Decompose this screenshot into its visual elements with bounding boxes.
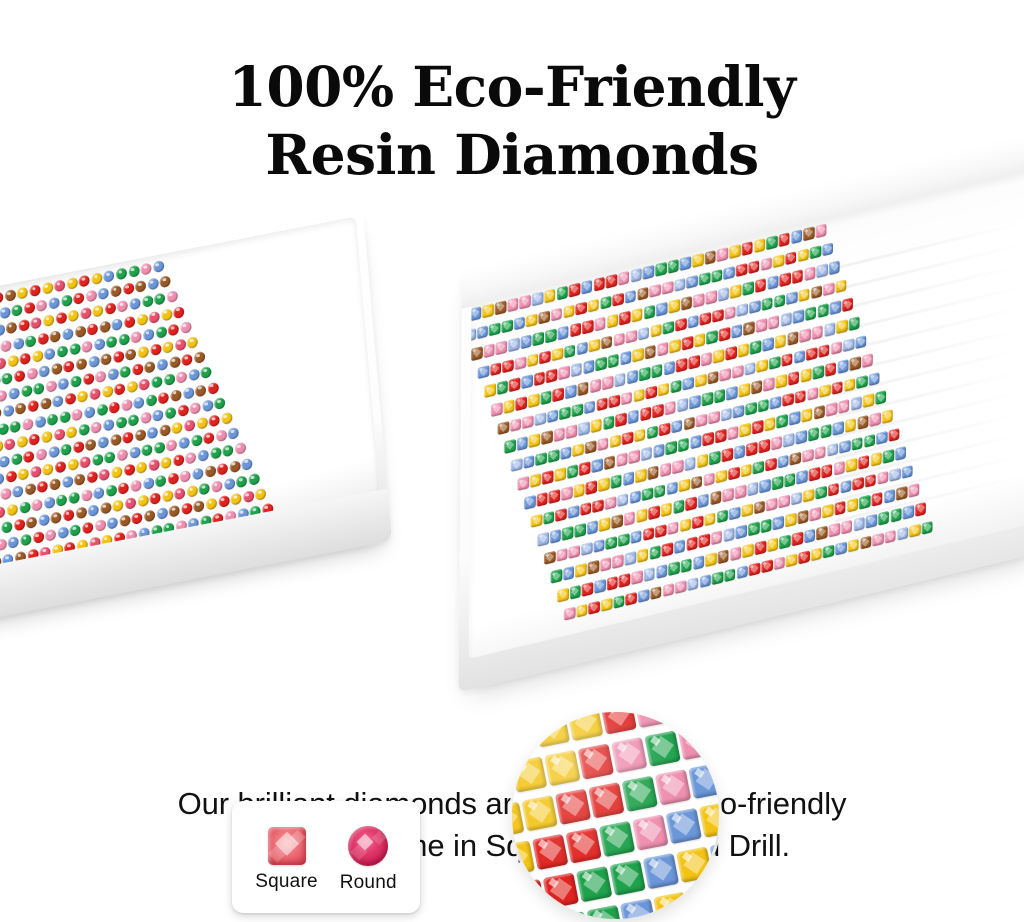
square-drill-bead [554, 467, 565, 482]
square-drill-bead [662, 280, 673, 295]
round-drill-bead [137, 345, 149, 358]
square-drill-bead [541, 430, 552, 445]
round-drill-bead [30, 317, 42, 330]
square-drill-bead [791, 491, 802, 506]
square-drill-bead [803, 226, 814, 241]
square-drill-bead [723, 266, 734, 281]
square-drill-bead [633, 388, 644, 403]
square-drill-bead [551, 569, 562, 584]
round-drill-bead [181, 502, 193, 515]
magnified-square-drill-bead [543, 872, 579, 908]
round-drill-bead [157, 358, 169, 371]
square-drill-bead [766, 497, 777, 512]
square-drill-bead [799, 328, 810, 343]
square-drill-bead [583, 360, 594, 375]
square-drill-bead [534, 372, 545, 387]
tray-groove [836, 327, 1021, 374]
magnified-square-drill-bead [532, 834, 568, 870]
round-drill-bead [95, 370, 107, 383]
round-drill-bead [22, 417, 34, 430]
square-drill-bead [628, 450, 639, 465]
square-drill-bead [712, 309, 723, 324]
square-drill-bead [777, 414, 788, 429]
round-drill-bead [0, 473, 5, 486]
square-drill-bead [550, 529, 561, 544]
square-drill-bead [539, 350, 550, 365]
round-drill-bead [27, 400, 39, 413]
square-drill-bead [586, 480, 597, 495]
round-drill-bead [160, 275, 172, 288]
round-drill-bead [50, 511, 62, 524]
square-drill-bead [619, 573, 630, 588]
square-drill-bead [600, 557, 611, 572]
round-drill-bead [93, 338, 105, 351]
round-drill-bead [176, 371, 188, 384]
square-drill-bead [613, 594, 624, 609]
square-drill-bead [724, 306, 735, 321]
square-drill-bead [576, 341, 587, 356]
square-drill-bead [860, 535, 871, 550]
round-drill-bead [44, 496, 56, 509]
square-drill-bead [674, 277, 685, 292]
magnified-square-drill-bead [644, 730, 680, 766]
square-drill-bead [786, 553, 797, 568]
round-drill-bead [104, 451, 116, 464]
round-drill-bead [79, 456, 91, 469]
square-drill-bead [656, 302, 667, 317]
square-drill-bead [594, 317, 605, 332]
round-drill-bead [0, 306, 11, 319]
round-drill-bead [78, 423, 90, 436]
round-drill-bead [129, 298, 141, 311]
square-drill-bead [625, 289, 636, 304]
square-drill-bead [555, 507, 566, 522]
square-drill-bead [556, 548, 567, 563]
round-drill-bead [110, 285, 122, 298]
square-drill-bead [571, 363, 582, 378]
round-drill-bead [6, 322, 18, 335]
round-drill-bead [31, 498, 43, 511]
square-drill-bead [544, 551, 555, 566]
square-drill-bead [684, 456, 695, 471]
magnified-square-drill-bead [655, 769, 691, 805]
round-drill-bead [154, 441, 166, 454]
round-drill-bead [53, 428, 65, 441]
round-drill-bead [55, 312, 67, 325]
magnified-square-drill-bead [578, 743, 614, 779]
square-drill-bead [814, 445, 825, 460]
round-drill-bead [141, 444, 153, 457]
square-drill-bead [714, 389, 725, 404]
round-drill-bead [92, 453, 104, 466]
square-drill-bead [687, 315, 698, 330]
square-drill-bead [511, 458, 522, 473]
round-drill-bead [82, 521, 94, 534]
round-drill-bead [255, 488, 267, 501]
round-drill-bead [61, 294, 73, 307]
square-drill-bead [649, 545, 660, 560]
square-drill-bead [751, 380, 762, 395]
round-drill-bead [44, 347, 56, 360]
magnified-square-drill-bead [565, 827, 601, 863]
square-drill-bead [560, 446, 571, 461]
round-drill-bead [206, 497, 218, 510]
square-drill-bead [660, 462, 671, 477]
square-drill-bead [598, 477, 609, 492]
square-drill-bead [802, 448, 813, 463]
square-drill-bead [595, 357, 606, 372]
square-drill-bead [690, 435, 701, 450]
magnified-square-drill-bead [609, 860, 645, 896]
square-drill-bead [680, 256, 691, 271]
round-drill-bead [0, 505, 6, 518]
square-drill-bead [777, 454, 788, 469]
round-drill-bead [110, 433, 122, 446]
magnified-square-drill-bead [520, 918, 556, 919]
square-drill-bead [642, 487, 653, 502]
square-drill-bead [618, 271, 629, 286]
round-drill-bead [32, 350, 44, 363]
round-drill-bead [56, 345, 68, 358]
round-drill-bead [236, 475, 248, 488]
square-drill-bead [807, 387, 818, 402]
square-drill-bead [605, 496, 616, 511]
round-drill-bead [13, 518, 25, 531]
square-drill-bead [613, 332, 624, 347]
square-drill-bead [737, 565, 748, 580]
square-drill-bead [630, 530, 641, 545]
square-drill-bead [763, 377, 774, 392]
square-drill-bead [567, 464, 578, 479]
square-drill-bead [707, 370, 718, 385]
square-drill-bead [872, 532, 883, 547]
magnified-square-drill-bead [587, 905, 623, 919]
square-drill-bead [810, 245, 821, 260]
square-drill-bead [562, 526, 573, 541]
round-drill-bead [49, 478, 61, 491]
square-drill-bead [759, 479, 770, 494]
headline-line-1: 100% Eco-Friendly [0, 56, 1024, 118]
square-drill-bead [584, 400, 595, 415]
square-drill-bead [551, 307, 562, 322]
round-drill-bead [133, 396, 145, 409]
round-drill-bead [149, 492, 161, 505]
square-drill-bead [699, 534, 710, 549]
square-drill-bead [700, 312, 711, 327]
square-drill-bead [773, 254, 784, 269]
square-drill-bead [730, 546, 741, 561]
square-drill-bead [620, 351, 631, 366]
square-drill-bead [762, 337, 773, 352]
round-drill-bead [163, 373, 175, 386]
square-drill-bead [779, 272, 790, 287]
round-drill-bead [0, 422, 9, 435]
round-drill-bead [29, 433, 41, 446]
round-drill-bead [19, 501, 31, 514]
round-drill-bead [7, 354, 19, 367]
square-drill-bead [803, 488, 814, 503]
square-drill-bead [496, 340, 507, 355]
round-drill-bead [41, 430, 53, 443]
square-drill-bead [813, 365, 824, 380]
round-drill-bead [180, 321, 192, 334]
square-drill-bead [728, 466, 739, 481]
square-drill-bead [922, 520, 933, 535]
square-drill-bead [680, 518, 691, 533]
magnified-square-drill-bead [544, 750, 580, 786]
square-drill-bead [800, 368, 811, 383]
round-drill-bead [180, 469, 192, 482]
round-drill-bead [16, 435, 28, 448]
round-drill-bead [203, 432, 215, 445]
square-drill-bead [655, 524, 666, 539]
square-drill-bead [789, 411, 800, 426]
square-drill-bead [514, 316, 525, 331]
square-drill-bead [566, 424, 577, 439]
round-drill-bead [0, 339, 12, 352]
round-drill-bead [174, 487, 186, 500]
round-drill-bead [71, 408, 83, 421]
square-drill-bead [748, 522, 759, 537]
round-drill-bead [66, 277, 78, 290]
round-drill-bead [107, 368, 119, 381]
round-drill-bead [5, 470, 17, 483]
square-drill-bead [700, 574, 711, 589]
round-drill-bead [111, 466, 123, 479]
round-drill-bead [147, 426, 159, 439]
round-drill-bead [29, 284, 41, 297]
square-drill-bead [482, 303, 493, 318]
square-drill-bead [582, 320, 593, 335]
round-drill-bead [200, 366, 212, 379]
square-drill-bead [774, 294, 785, 309]
square-drill-bead [503, 399, 514, 414]
square-drill-bead [750, 340, 761, 355]
square-drill-bead [601, 597, 612, 612]
square-drill-bead [808, 427, 819, 442]
round-drill-bead [55, 461, 67, 474]
square-drill-bead [798, 248, 809, 263]
round-drill-bead [152, 409, 164, 422]
square-drill-bead [741, 503, 752, 518]
square-drill-bead [591, 418, 602, 433]
square-drill-bead [585, 440, 596, 455]
square-drill-bead [634, 428, 645, 443]
round-drill-bead [121, 398, 133, 411]
square-drill-bead [646, 385, 657, 400]
magnified-square-drill-bead [687, 885, 719, 919]
square-drill-bead [686, 537, 697, 552]
square-drill-bead [631, 268, 642, 283]
square-drill-bead [812, 325, 823, 340]
magnified-square-drill-bead [634, 712, 670, 728]
round-drill-bead [57, 526, 69, 539]
round-drill-bead [25, 334, 37, 347]
magnified-square-drill-bead [567, 712, 603, 741]
square-drill-bead [761, 297, 772, 312]
square-drill-bead [643, 527, 654, 542]
round-drill-bead [132, 363, 144, 376]
round-drill-bead [134, 429, 146, 442]
square-drill-bead [606, 274, 617, 289]
square-drill-bead [529, 433, 540, 448]
square-drill-bead [792, 269, 803, 284]
round-drill-bead [124, 315, 136, 328]
square-drill-bead [614, 372, 625, 387]
tray-groove [835, 433, 1020, 480]
round-drill-bead [155, 326, 167, 339]
round-drill-bead [159, 424, 171, 437]
round-drill-bead [67, 458, 79, 471]
square-drill-bead [811, 547, 822, 562]
round-drill-bead [63, 360, 75, 373]
square-drill-bead [570, 323, 581, 338]
round-drill-bead [148, 459, 160, 472]
square-drill-bead [578, 421, 589, 436]
round-drill-bead [167, 472, 179, 485]
square-drill-bead [819, 384, 830, 399]
square-drill-bead [703, 472, 714, 487]
round-drill-bead [0, 407, 2, 420]
round-drill-bead [30, 465, 42, 478]
square-drill-bead [520, 334, 531, 349]
square-drill-bead [717, 509, 728, 524]
round-drill-bead [135, 280, 147, 293]
square-drill-bead [729, 244, 740, 259]
square-drill-bead [821, 464, 832, 479]
square-drill-bead [786, 291, 797, 306]
square-drill-bead [663, 583, 674, 598]
round-drill-bead [136, 461, 148, 474]
magnified-square-drill-bead [600, 712, 636, 735]
square-drill-bead [681, 558, 692, 573]
square-drill-bead [483, 343, 494, 358]
round-drill-bead [37, 481, 49, 494]
legend-item-round[interactable]: Round [340, 826, 397, 892]
square-drill-bead [531, 513, 542, 528]
square-drill-bead [718, 549, 729, 564]
round-drill-bead [140, 262, 152, 275]
square-drill-gem-icon [268, 827, 306, 865]
square-drill-bead [468, 328, 475, 343]
square-drill-bead [703, 432, 714, 447]
round-drill-bead [80, 307, 92, 320]
square-drill-bead [644, 567, 655, 582]
round-drill-bead [0, 488, 11, 501]
magnified-square-drill-bead [653, 892, 689, 919]
round-drill-bead [74, 473, 86, 486]
square-drill-bead [610, 434, 621, 449]
round-drill-bead [51, 362, 63, 375]
square-drill-bead [719, 327, 730, 342]
round-drill-bead [4, 289, 16, 302]
round-drill-bead [59, 410, 71, 423]
round-drill-bead [136, 313, 148, 326]
square-drill-bead [665, 401, 676, 416]
round-drill-bead [105, 484, 117, 497]
square-drill-bead [687, 577, 698, 592]
square-drill-bead [816, 223, 827, 238]
square-drill-bead [650, 323, 661, 338]
magnified-square-drill-bead [555, 789, 591, 825]
round-drill-bead [41, 282, 53, 295]
round-drill-bead [89, 388, 101, 401]
square-drill-bead [616, 453, 627, 468]
square-drill-bead [626, 329, 637, 344]
legend-item-square[interactable]: Square [255, 827, 317, 891]
round-drill-bead [154, 293, 166, 306]
round-drill-bead [74, 325, 86, 338]
round-drill-bead [191, 434, 203, 447]
round-drill-bead [145, 393, 157, 406]
round-drill-bead [165, 406, 177, 419]
square-drill-bead [740, 423, 751, 438]
square-drill-bead [666, 441, 677, 456]
round-drill-bead [70, 375, 82, 388]
square-drill-bead [675, 580, 686, 595]
square-drill-bead [656, 564, 667, 579]
square-drill-bead [792, 531, 803, 546]
square-drill-bead [626, 591, 637, 606]
round-drill-bead [143, 328, 155, 341]
square-drill-bead [824, 322, 835, 337]
round-drill-bead [58, 377, 70, 390]
square-drill-bead [747, 482, 758, 497]
round-drill-bead [160, 457, 172, 470]
round-drill-bead [60, 443, 72, 456]
round-drill-bead [56, 493, 68, 506]
square-drill-bead [692, 253, 703, 268]
round-drill-bead [88, 355, 100, 368]
round-drill-bead [17, 286, 29, 299]
round-drill-bead [170, 389, 182, 402]
square-drill-bead [749, 300, 760, 315]
square-drill-bead [794, 350, 805, 365]
magnified-square-drill-bead [622, 776, 658, 812]
square-drill-bead [664, 361, 675, 376]
square-drill-bead [557, 326, 568, 341]
square-drill-bead [679, 478, 690, 493]
round-drill-bead [91, 272, 103, 285]
square-drill-bead [561, 486, 572, 501]
round-drill-bead [99, 469, 111, 482]
square-drill-bead [689, 395, 700, 410]
square-drill-bead [621, 391, 632, 406]
round-drill-bead [52, 395, 64, 408]
round-drill-bead [107, 516, 119, 529]
square-drill-bead [501, 319, 512, 334]
square-drill-bead [470, 306, 481, 321]
square-drill-bead [722, 488, 733, 503]
square-drill-bead [604, 456, 615, 471]
round-drill-bead [67, 310, 79, 323]
square-drill-bead [509, 378, 520, 393]
square-drill-bead [657, 342, 668, 357]
square-drill-bead [668, 259, 679, 274]
square-drill-bead [796, 430, 807, 445]
round-drill-bead [33, 382, 45, 395]
round-drill-bead [85, 290, 97, 303]
square-drill-bead [885, 529, 896, 544]
square-drill-bead [502, 359, 513, 374]
square-drill-bead [615, 412, 626, 427]
round-drill-bead [118, 481, 130, 494]
round-drill-bead [18, 319, 30, 332]
round-drill-tray [0, 210, 392, 636]
square-drill-bead [653, 444, 664, 459]
round-drill-bead [116, 267, 128, 280]
square-drill-bead [601, 335, 612, 350]
